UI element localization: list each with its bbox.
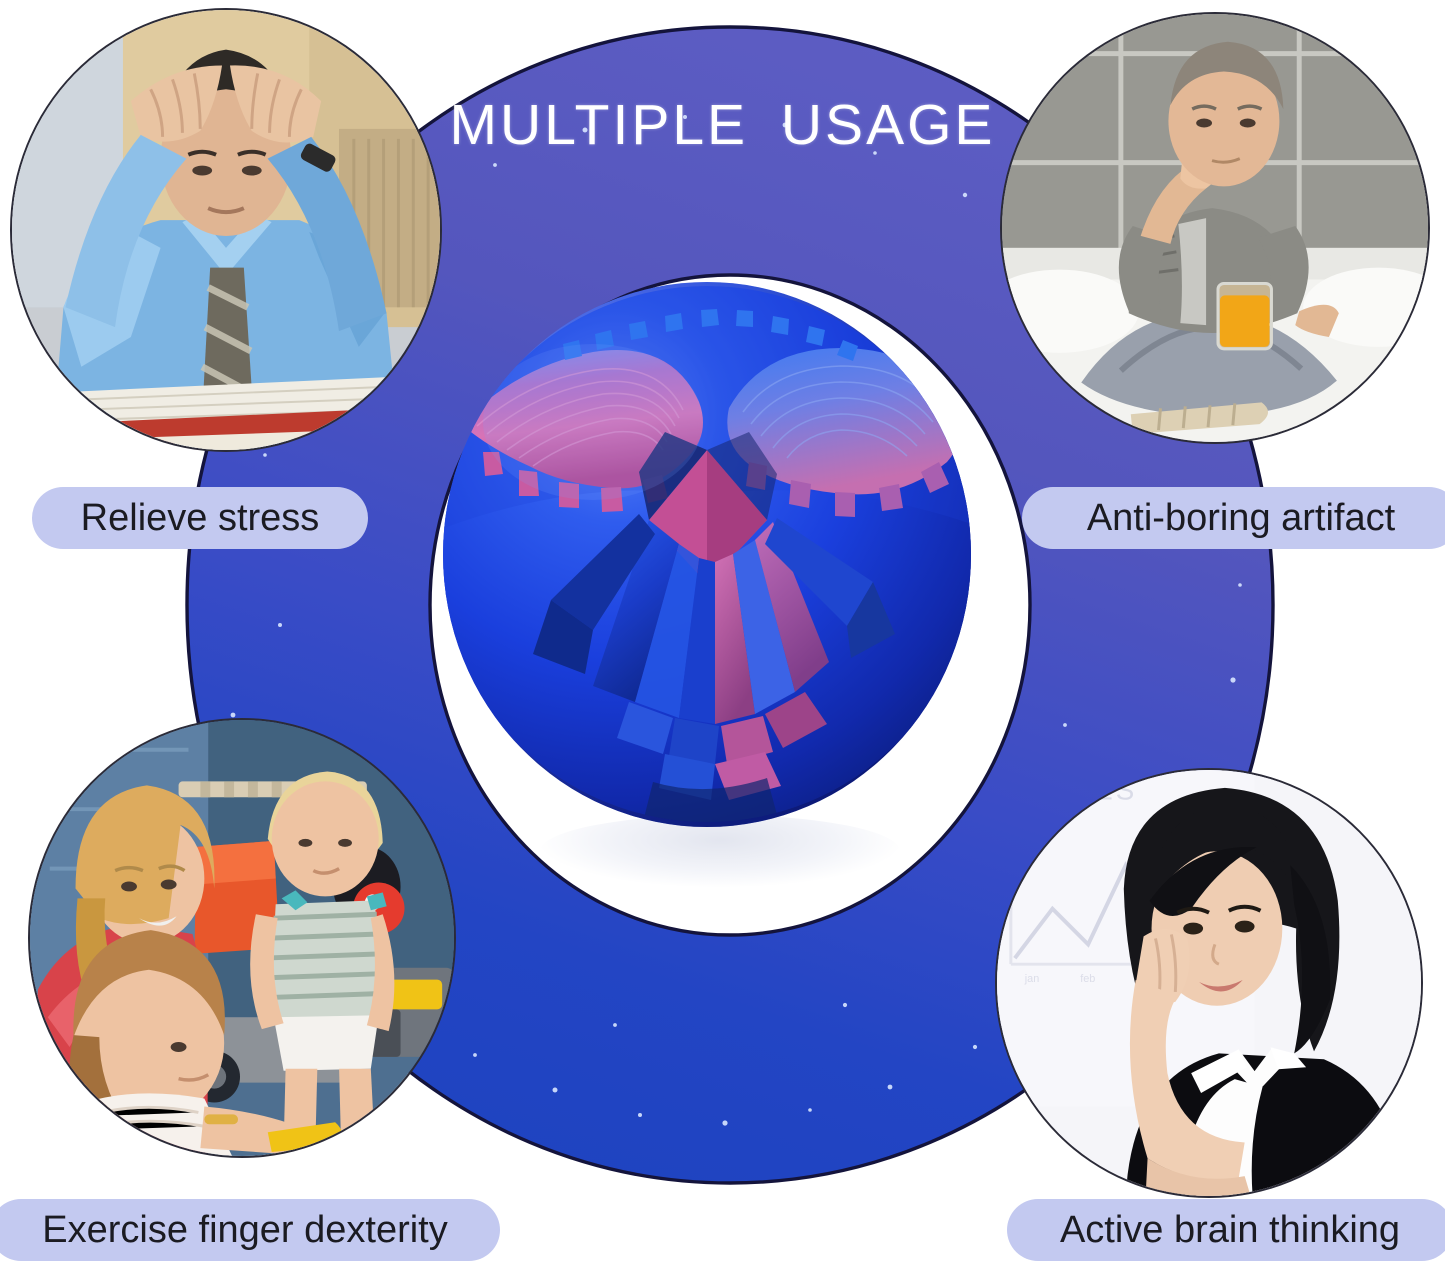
- gear-fidget-ball: [443, 282, 971, 827]
- photo-stressed-man: [10, 8, 442, 452]
- ball-highlight: [483, 344, 703, 500]
- label-brain-thinking[interactable]: Active brain thinking: [1007, 1199, 1445, 1261]
- photo-bored-man-bed: [1000, 12, 1430, 444]
- label-finger-dexterity[interactable]: Exercise finger dexterity: [0, 1199, 500, 1261]
- photo-bored-woman-art: ALES janfebmar: [997, 770, 1421, 1196]
- photo-bored-man-art: [1002, 14, 1428, 442]
- photo-mother-toddlers: [28, 718, 456, 1158]
- photo-stressed-man-art: [12, 10, 440, 450]
- photo-mother-toddlers-art: [30, 720, 454, 1156]
- label-relieve-stress[interactable]: Relieve stress: [32, 487, 368, 549]
- photo-bored-woman-office: ALES janfebmar: [995, 768, 1423, 1198]
- gear-ball-graphic: [443, 282, 971, 827]
- infographic-canvas: MULTIPLE USAGE: [0, 0, 1445, 1270]
- label-anti-boring[interactable]: Anti-boring artifact: [1022, 487, 1445, 549]
- svg-text:jan: jan: [1024, 973, 1040, 985]
- svg-text:feb: feb: [1080, 973, 1095, 985]
